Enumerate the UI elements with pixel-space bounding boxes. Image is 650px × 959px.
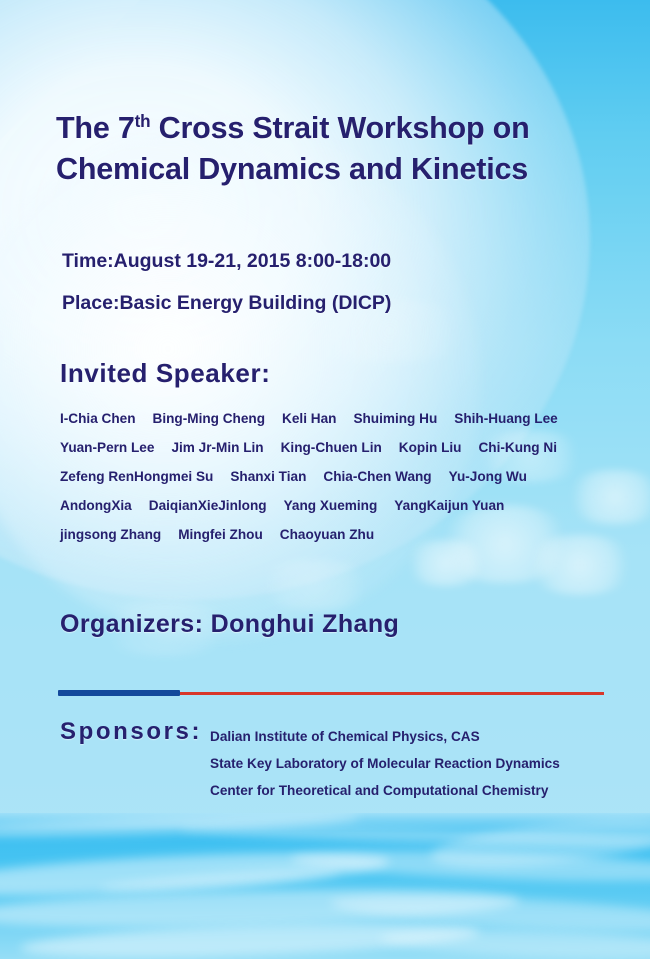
speaker-name: Yang Xueming [284,498,378,513]
divider-red-segment [180,692,604,695]
speaker-name: Keli Han [282,411,336,426]
speaker-name: jingsong Zhang [60,527,161,542]
title-suffix: Cross Strait Workshop on [150,111,529,145]
speaker-name: Chi-Kung Ni [478,440,557,455]
speaker-name: DaiqianXieJinlong [149,498,267,513]
speaker-name: Shih-Huang Lee [454,411,557,426]
speaker-name: Kopin Liu [399,440,462,455]
speaker-row: AndongXiaDaiqianXieJinlongYang XuemingYa… [60,491,620,520]
title-line-2: Chemical Dynamics and Kinetics [56,152,528,186]
invited-speaker-heading: Invited Speaker: [60,358,270,389]
speaker-name: Yuan-Pern Lee [60,440,154,455]
speaker-name: Chaoyuan Zhu [280,527,374,542]
sponsor-item: State Key Laboratory of Molecular Reacti… [210,750,560,777]
speaker-name: AndongXia [60,498,132,513]
speaker-name: Yu-Jong Wu [449,469,527,484]
divider-blue-segment [58,690,180,696]
title-ordinal-superscript: th [135,112,151,131]
speaker-name: Zefeng RenHongmei Su [60,469,213,484]
speaker-name: King-Chuen Lin [281,440,382,455]
speaker-name: Jim Jr-Min Lin [171,440,263,455]
conference-poster: The 7th Cross Strait Workshop on Chemica… [0,0,650,959]
event-time: Time:August 19-21, 2015 8:00-18:00 [62,250,622,273]
speaker-row: Yuan-Pern LeeJim Jr-Min LinKing-Chuen Li… [60,433,620,462]
sponsor-item: Dalian Institute of Chemical Physics, CA… [210,723,560,750]
section-divider [58,690,604,696]
speaker-name: Bing-Ming Cheng [153,411,266,426]
sponsor-item: Center for Theoretical and Computational… [210,777,560,804]
speaker-row: Zefeng RenHongmei SuShanxi TianChia-Chen… [60,462,620,491]
speaker-row: I-Chia ChenBing-Ming ChengKeli HanShuimi… [60,404,620,433]
speaker-name: I-Chia Chen [60,411,136,426]
speaker-name: Mingfei Zhou [178,527,263,542]
speaker-name: Chia-Chen Wang [323,469,431,484]
invited-speaker-list: I-Chia ChenBing-Ming ChengKeli HanShuimi… [60,404,620,549]
sponsors-label: Sponsors: [60,718,202,746]
poster-title: The 7th Cross Strait Workshop on Chemica… [56,108,616,189]
speaker-name: Shanxi Tian [230,469,306,484]
event-place: Place:Basic Energy Building (DICP) [62,292,622,315]
title-line-1: The 7th Cross Strait Workshop on [56,111,530,145]
title-prefix: The 7 [56,111,135,145]
sponsor-list: Dalian Institute of Chemical Physics, CA… [210,723,560,804]
speaker-name: Shuiming Hu [353,411,437,426]
speaker-name: YangKaijun Yuan [394,498,504,513]
poster-content: The 7th Cross Strait Workshop on Chemica… [0,0,650,959]
organizers-line: Organizers: Donghui Zhang [60,610,399,639]
speaker-row: jingsong ZhangMingfei ZhouChaoyuan Zhu [60,520,620,549]
